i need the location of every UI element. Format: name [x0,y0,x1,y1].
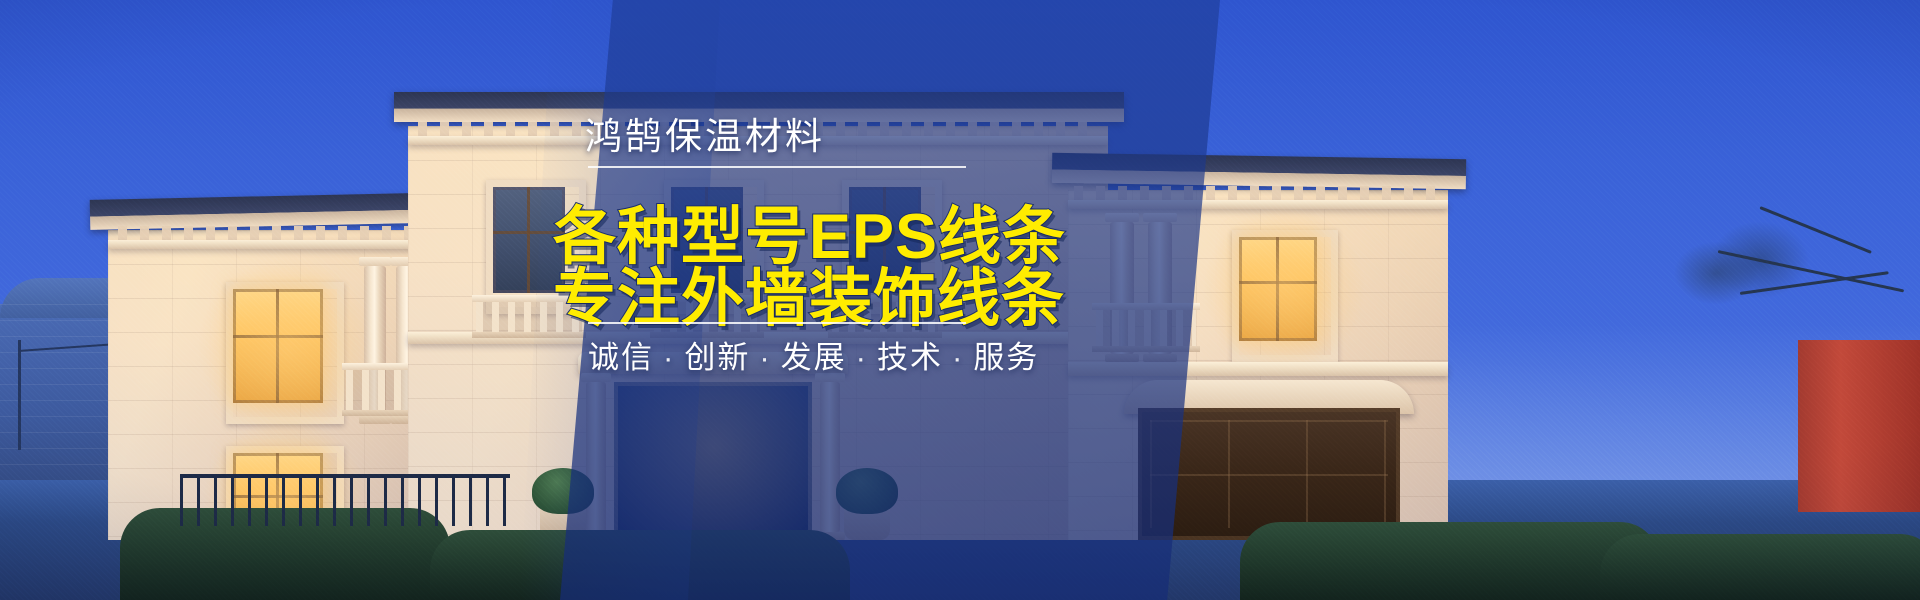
overlay-panel [560,0,1220,600]
promo-banner: 鸿鹄保温材料 各种型号EPS线条 专注外墙装饰线条 诚信·创新·发展·技术·服务 [0,0,1920,600]
